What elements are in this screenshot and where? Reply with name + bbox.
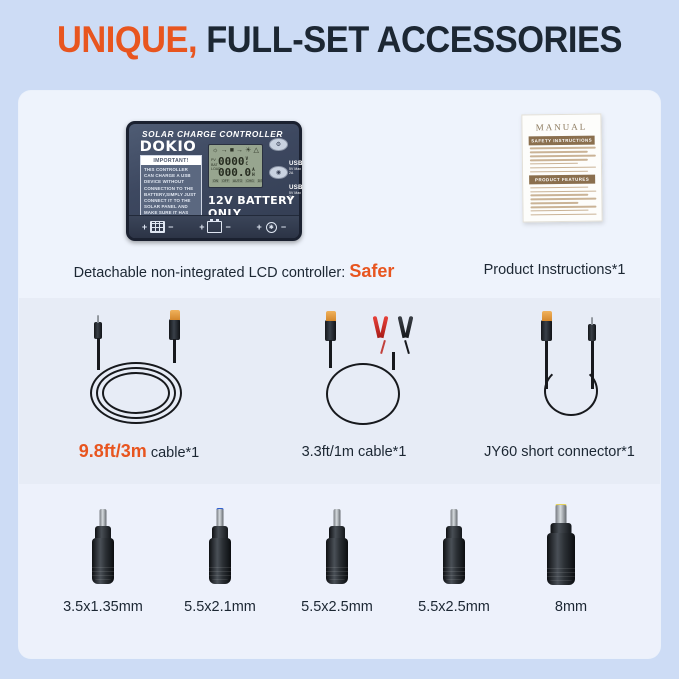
arrow-right-icon: → (221, 147, 228, 154)
manual-text-line (531, 213, 597, 215)
lcd-left-tags: PVBATLOAD (211, 158, 221, 172)
manual-text-line (530, 186, 588, 188)
controller-warning-heading: IMPORTANT! (141, 156, 201, 165)
terminal-battery-minus: − (225, 222, 230, 232)
solar-panel-icon (150, 221, 165, 233)
adapter-4-image (544, 499, 578, 585)
adapter-body (209, 538, 231, 584)
adapter-body (547, 533, 575, 585)
adapter-1-image (203, 506, 237, 584)
manual-text-line (530, 170, 588, 172)
terminal-battery: + − (199, 221, 231, 233)
terminal-load: + ✱ − (257, 222, 287, 232)
manual-text-line (530, 202, 578, 204)
dc-plug-icon (94, 322, 102, 339)
cable-lead-red (380, 340, 386, 354)
lcd-status-tags: ON OFF AUTO CHG DSC (209, 178, 262, 183)
controller-brand-logo: DOKIO (140, 139, 197, 155)
controller-lcd-display: ☼ → ■ → ☀ △ PVBATLOAD 0000 V C (208, 144, 263, 188)
controller-terminal-bar: + − + − + ✱ − (129, 215, 299, 238)
jy60-connector-caption: JY60 short connector*1 (459, 444, 660, 460)
section-cables: 9.8ft/3m cable*1 3.3ft/1m cable*1 JY60 s… (19, 298, 660, 484)
lcd-tag-3: CHG (245, 179, 255, 183)
manual-band-safety: SAFETY INSTRUCTIONS (529, 136, 595, 146)
usb-port-1-label: USB (289, 160, 303, 167)
cable-segment (173, 339, 176, 363)
manual-text-line (530, 159, 588, 161)
alligator-clip-black (400, 316, 413, 342)
lcd-unit-secondary-bottom: H (252, 173, 255, 178)
battery-icon-terminal (207, 221, 222, 233)
lamp-icon: ☀ (245, 147, 251, 154)
usb-port-1-sub: 5V Max 2A (289, 167, 303, 175)
manual-text-line (530, 151, 588, 153)
section-adapters: 3.5x1.35mm 5.5x2.1mm 5.5x2.5mm 5.5x2.5mm… (19, 484, 660, 658)
orange-connector-icon (541, 320, 552, 341)
cable-bend (544, 366, 598, 416)
manual-text-line (531, 210, 589, 212)
terminal-solar: + − (142, 221, 174, 233)
adapter-2-image (320, 506, 354, 584)
section-controller: SOLAR CHARGE CONTROLLER DOKIO IMPORTANT!… (19, 91, 660, 298)
manual-text-line (530, 166, 596, 168)
adapter-0-label: 3.5x1.35mm (43, 599, 163, 615)
orange-connector-icon (169, 319, 180, 340)
manual-text-line (530, 198, 596, 200)
adapter-0-image (86, 506, 120, 584)
page-title-rest: FULL-SET ACCESSORIES (197, 19, 622, 60)
cable-lead-black (404, 340, 410, 354)
sun-icon: ☼ (212, 147, 218, 154)
adapter-3-image (437, 506, 471, 584)
long-cable-caption-accent: 9.8ft/3m (79, 441, 147, 461)
terminal-battery-plus: + (199, 222, 204, 232)
terminal-solar-minus: − (168, 222, 173, 232)
lamp-icon-terminal: ✱ (265, 222, 278, 232)
alligator-clip-red (375, 316, 388, 342)
manual-band-features: PRODUCT FEATURES (529, 175, 595, 185)
lcd-value-secondary: 000.0 (218, 167, 251, 178)
clip-cable-caption: 3.3ft/1m cable*1 (249, 444, 459, 460)
manual-text-line (530, 190, 596, 192)
adapter-2-label: 5.5x2.5mm (277, 599, 397, 615)
adapter-body (92, 538, 114, 584)
cable-segment (97, 338, 100, 370)
clip-cable-image (279, 308, 439, 430)
product-manual: MANUAL SAFETY INSTRUCTIONS PRODUCT FEATU… (521, 114, 602, 223)
cable-segment (329, 340, 332, 368)
cable-coil (326, 363, 400, 425)
orange-connector-icon (325, 320, 336, 341)
manual-title: MANUAL (528, 122, 594, 133)
long-cable-caption-plain: cable*1 (147, 445, 199, 461)
lcd-tag-2: AUTO (232, 179, 243, 183)
manual-text-line (530, 155, 596, 157)
manual-caption: Product Instructions*1 (449, 262, 660, 278)
battery-icon: ■ (230, 147, 234, 154)
controller-caption: Detachable non-integrated LCD controller… (19, 261, 449, 282)
terminal-solar-plus: + (142, 222, 147, 232)
manual-text-line (530, 147, 596, 149)
controller-caption-accent: Safer (349, 261, 394, 281)
terminal-load-plus: + (257, 222, 262, 232)
jy60-connector-image (511, 310, 631, 428)
arrow-right-icon-2: → (236, 147, 243, 154)
terminal-load-minus: − (281, 222, 286, 232)
page-title-highlight: UNIQUE (57, 19, 188, 60)
page-title: UNIQUE, FULL-SET ACCESSORIES (24, 18, 655, 62)
manual-text-line (530, 163, 578, 165)
usb-port-2-label: USB (289, 184, 303, 191)
adapter-1-label: 5.5x2.1mm (160, 599, 280, 615)
mode-button[interactable]: ◉ (269, 166, 288, 179)
lcd-tag-4: DSC (257, 179, 263, 183)
usb-port-1: USB 5V Max 2A (289, 160, 303, 175)
manual-text-line (530, 206, 596, 208)
adapter-3-label: 5.5x2.5mm (394, 599, 514, 615)
long-cable-image (61, 310, 231, 430)
lcd-tag-1: OFF (221, 179, 230, 183)
warning-icon: △ (254, 147, 259, 154)
dc-plug-icon (588, 324, 596, 341)
accessories-card: SOLAR CHARGE CONTROLLER DOKIO IMPORTANT!… (19, 91, 660, 658)
manual-text-line (530, 194, 588, 196)
adapter-body (443, 538, 465, 584)
controller-caption-text: Detachable non-integrated LCD controller… (74, 265, 346, 281)
adapter-4-label: 8mm (511, 599, 631, 615)
adapter-body (326, 538, 348, 584)
lcd-tag-0: ON (212, 179, 219, 183)
solar-charge-controller: SOLAR CHARGE CONTROLLER DOKIO IMPORTANT!… (126, 121, 302, 241)
controller-title: SOLAR CHARGE CONTROLLER (142, 129, 283, 139)
set-button[interactable]: ⚙ (269, 138, 288, 151)
cable-coil (102, 372, 170, 414)
long-cable-caption: 9.8ft/3m cable*1 (19, 441, 259, 462)
cable-segment (392, 352, 395, 370)
